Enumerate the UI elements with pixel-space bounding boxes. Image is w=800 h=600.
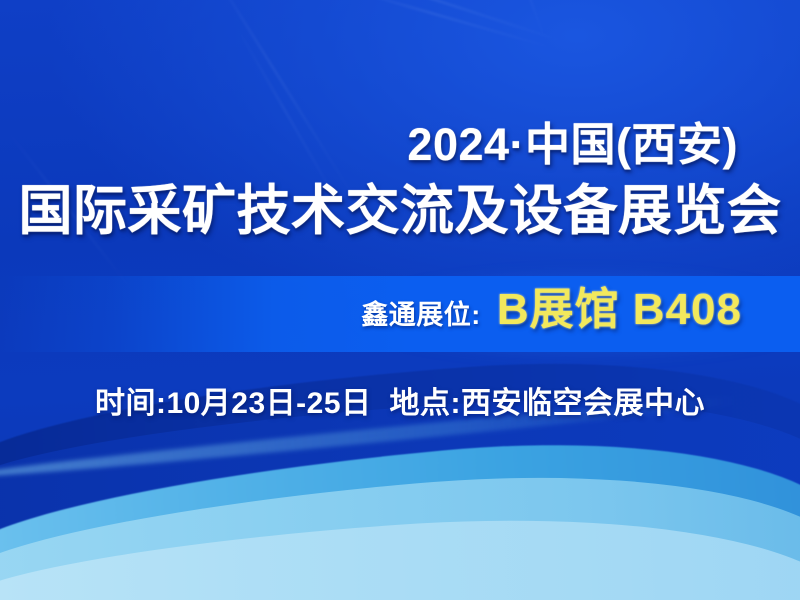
exhibition-banner: 2024·中国(西安) 国际采矿技术交流及设备展览会 鑫通展位: B展馆 B40… — [0, 0, 800, 600]
event-venue: 地点:西安临空会展中心 — [390, 387, 706, 420]
banner-content: 2024·中国(西安) 国际采矿技术交流及设备展览会 鑫通展位: B展馆 B40… — [0, 0, 800, 600]
booth-number: B展馆 B408 — [497, 288, 742, 332]
event-title-line-1: 2024·中国(西安) — [407, 122, 738, 167]
booth-label: 鑫通展位: — [361, 293, 481, 332]
event-meta-row: 时间:10月23日-25日地点:西安临空会展中心 — [0, 378, 800, 422]
booth-info-row: 鑫通展位: B展馆 B408 — [0, 288, 742, 332]
event-date: 时间:10月23日-25日 — [95, 387, 372, 420]
event-title-line-2: 国际采矿技术交流及设备展览会 — [19, 184, 782, 238]
